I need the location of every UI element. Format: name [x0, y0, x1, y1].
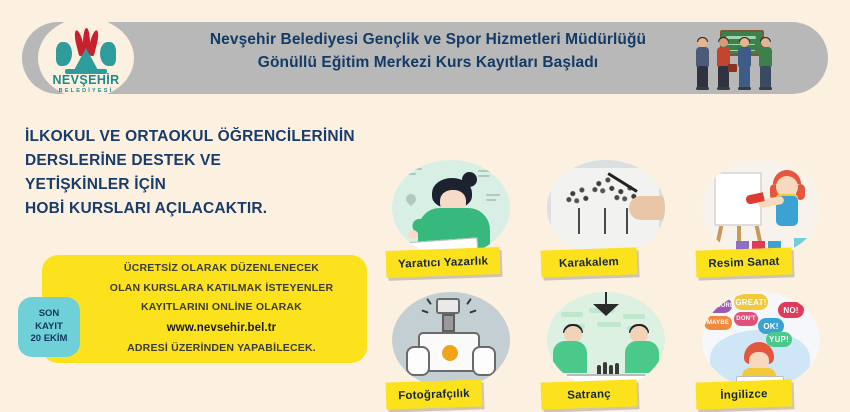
- course-label-text: Fotoğrafçılık: [398, 388, 470, 402]
- deadline-badge: SON KAYIT 20 EKİM: [18, 297, 80, 357]
- course-card-chess[interactable]: Satranç: [533, 292, 683, 412]
- registration-info-box: ÜCRETSİZ OLARAK DÜZENLENECEK OLAN KURSLA…: [42, 255, 367, 363]
- logo-emblem-icon: [55, 30, 117, 74]
- course-card-painting[interactable]: Resim Sanat: [688, 160, 838, 280]
- course-card-photography[interactable]: Fotoğrafçılık: [378, 292, 528, 412]
- student-figure-2: [736, 38, 753, 90]
- speech-bubble-for-sure: FOR SURE!: [706, 298, 732, 313]
- course-label-text: Karakalem: [559, 256, 619, 270]
- course-label-creative-writing: Yaratıcı Yazarlık: [386, 247, 501, 278]
- headline-line-2: DERSLERİNE DESTEK VE: [25, 149, 375, 173]
- chess-illustration: [547, 292, 665, 388]
- nevsehir-municipality-logo: NEVŞEHİR BELEDİYESİ: [38, 18, 134, 98]
- headline-line-3: YETİŞKİNLER İÇİN: [25, 173, 375, 197]
- deadline-label-line1: SON: [39, 308, 60, 321]
- info-line-3: KAYITLARINI ONLİNE OLARAK: [141, 298, 302, 317]
- speech-bubble-dont: DON'T: [734, 312, 758, 326]
- student-figure-3: [757, 38, 774, 90]
- course-label-text: Resim Sanat: [708, 256, 780, 270]
- logo-subtitle: BELEDİYESİ: [59, 88, 114, 94]
- course-card-charcoal[interactable]: Karakalem: [533, 160, 683, 280]
- english-illustration: FOR SURE! GREAT! NO! MAYBE DON'T OK! YUP…: [702, 292, 820, 388]
- course-card-creative-writing[interactable]: Yaratıcı Yazarlık: [378, 160, 528, 280]
- course-label-photography: Fotoğrafçılık: [386, 379, 483, 409]
- course-label-painting: Resim Sanat: [696, 247, 793, 277]
- charcoal-drawing-illustration: [547, 160, 665, 256]
- headline-line-1: İLKOKUL VE ORTAOKUL ÖĞRENCİLERİNİN: [25, 125, 375, 149]
- registration-website-link[interactable]: www.nevsehir.bel.tr: [167, 318, 276, 340]
- speech-bubble-great: GREAT!: [734, 294, 768, 310]
- course-label-english: İngilizce: [696, 379, 793, 409]
- course-card-english[interactable]: FOR SURE! GREAT! NO! MAYBE DON'T OK! YUP…: [688, 292, 838, 412]
- info-line-2: OLAN KURSLARA KATILMAK İSTEYENLER: [110, 279, 334, 298]
- course-label-text: Yaratıcı Yazarlık: [398, 255, 489, 270]
- info-line-last: ADRESİ ÜZERİNDEN YAPABİLECEK.: [127, 339, 316, 358]
- course-card-grid: Yaratıcı Yazarlık Karakalem: [378, 160, 838, 410]
- course-label-charcoal: Karakalem: [541, 247, 638, 277]
- header-title-line1: Nevşehir Belediyesi Gençlik ve Spor Hizm…: [148, 28, 708, 51]
- headline-line-4: HOBİ KURSLARI AÇILACAKTIR.: [25, 197, 375, 221]
- info-line-1: ÜCRETSİZ OLARAK DÜZENLENECEK: [124, 259, 319, 278]
- speech-bubble-yup: YUP!: [766, 332, 792, 347]
- speech-bubble-maybe: MAYBE: [704, 316, 732, 330]
- speech-bubble-no: NO!: [778, 302, 804, 318]
- course-label-chess: Satranç: [541, 379, 638, 409]
- header-title-line2: Gönüllü Eğitim Merkezi Kurs Kayıtları Ba…: [148, 51, 708, 74]
- main-headline: İLKOKUL VE ORTAOKUL ÖĞRENCİLERİNİN DERSL…: [25, 125, 375, 221]
- student-figure-1: [715, 38, 732, 90]
- students-teacher-illustration: [694, 28, 814, 90]
- logo-name: NEVŞEHİR: [52, 74, 119, 87]
- teacher-figure: [694, 38, 711, 90]
- painting-illustration: [702, 160, 820, 256]
- deadline-label-line2: KAYIT: [35, 321, 63, 334]
- creative-writing-illustration: [392, 160, 510, 256]
- photography-illustration: [392, 292, 510, 388]
- header-title: Nevşehir Belediyesi Gençlik ve Spor Hizm…: [148, 28, 708, 75]
- deadline-date: 20 EKİM: [31, 333, 68, 346]
